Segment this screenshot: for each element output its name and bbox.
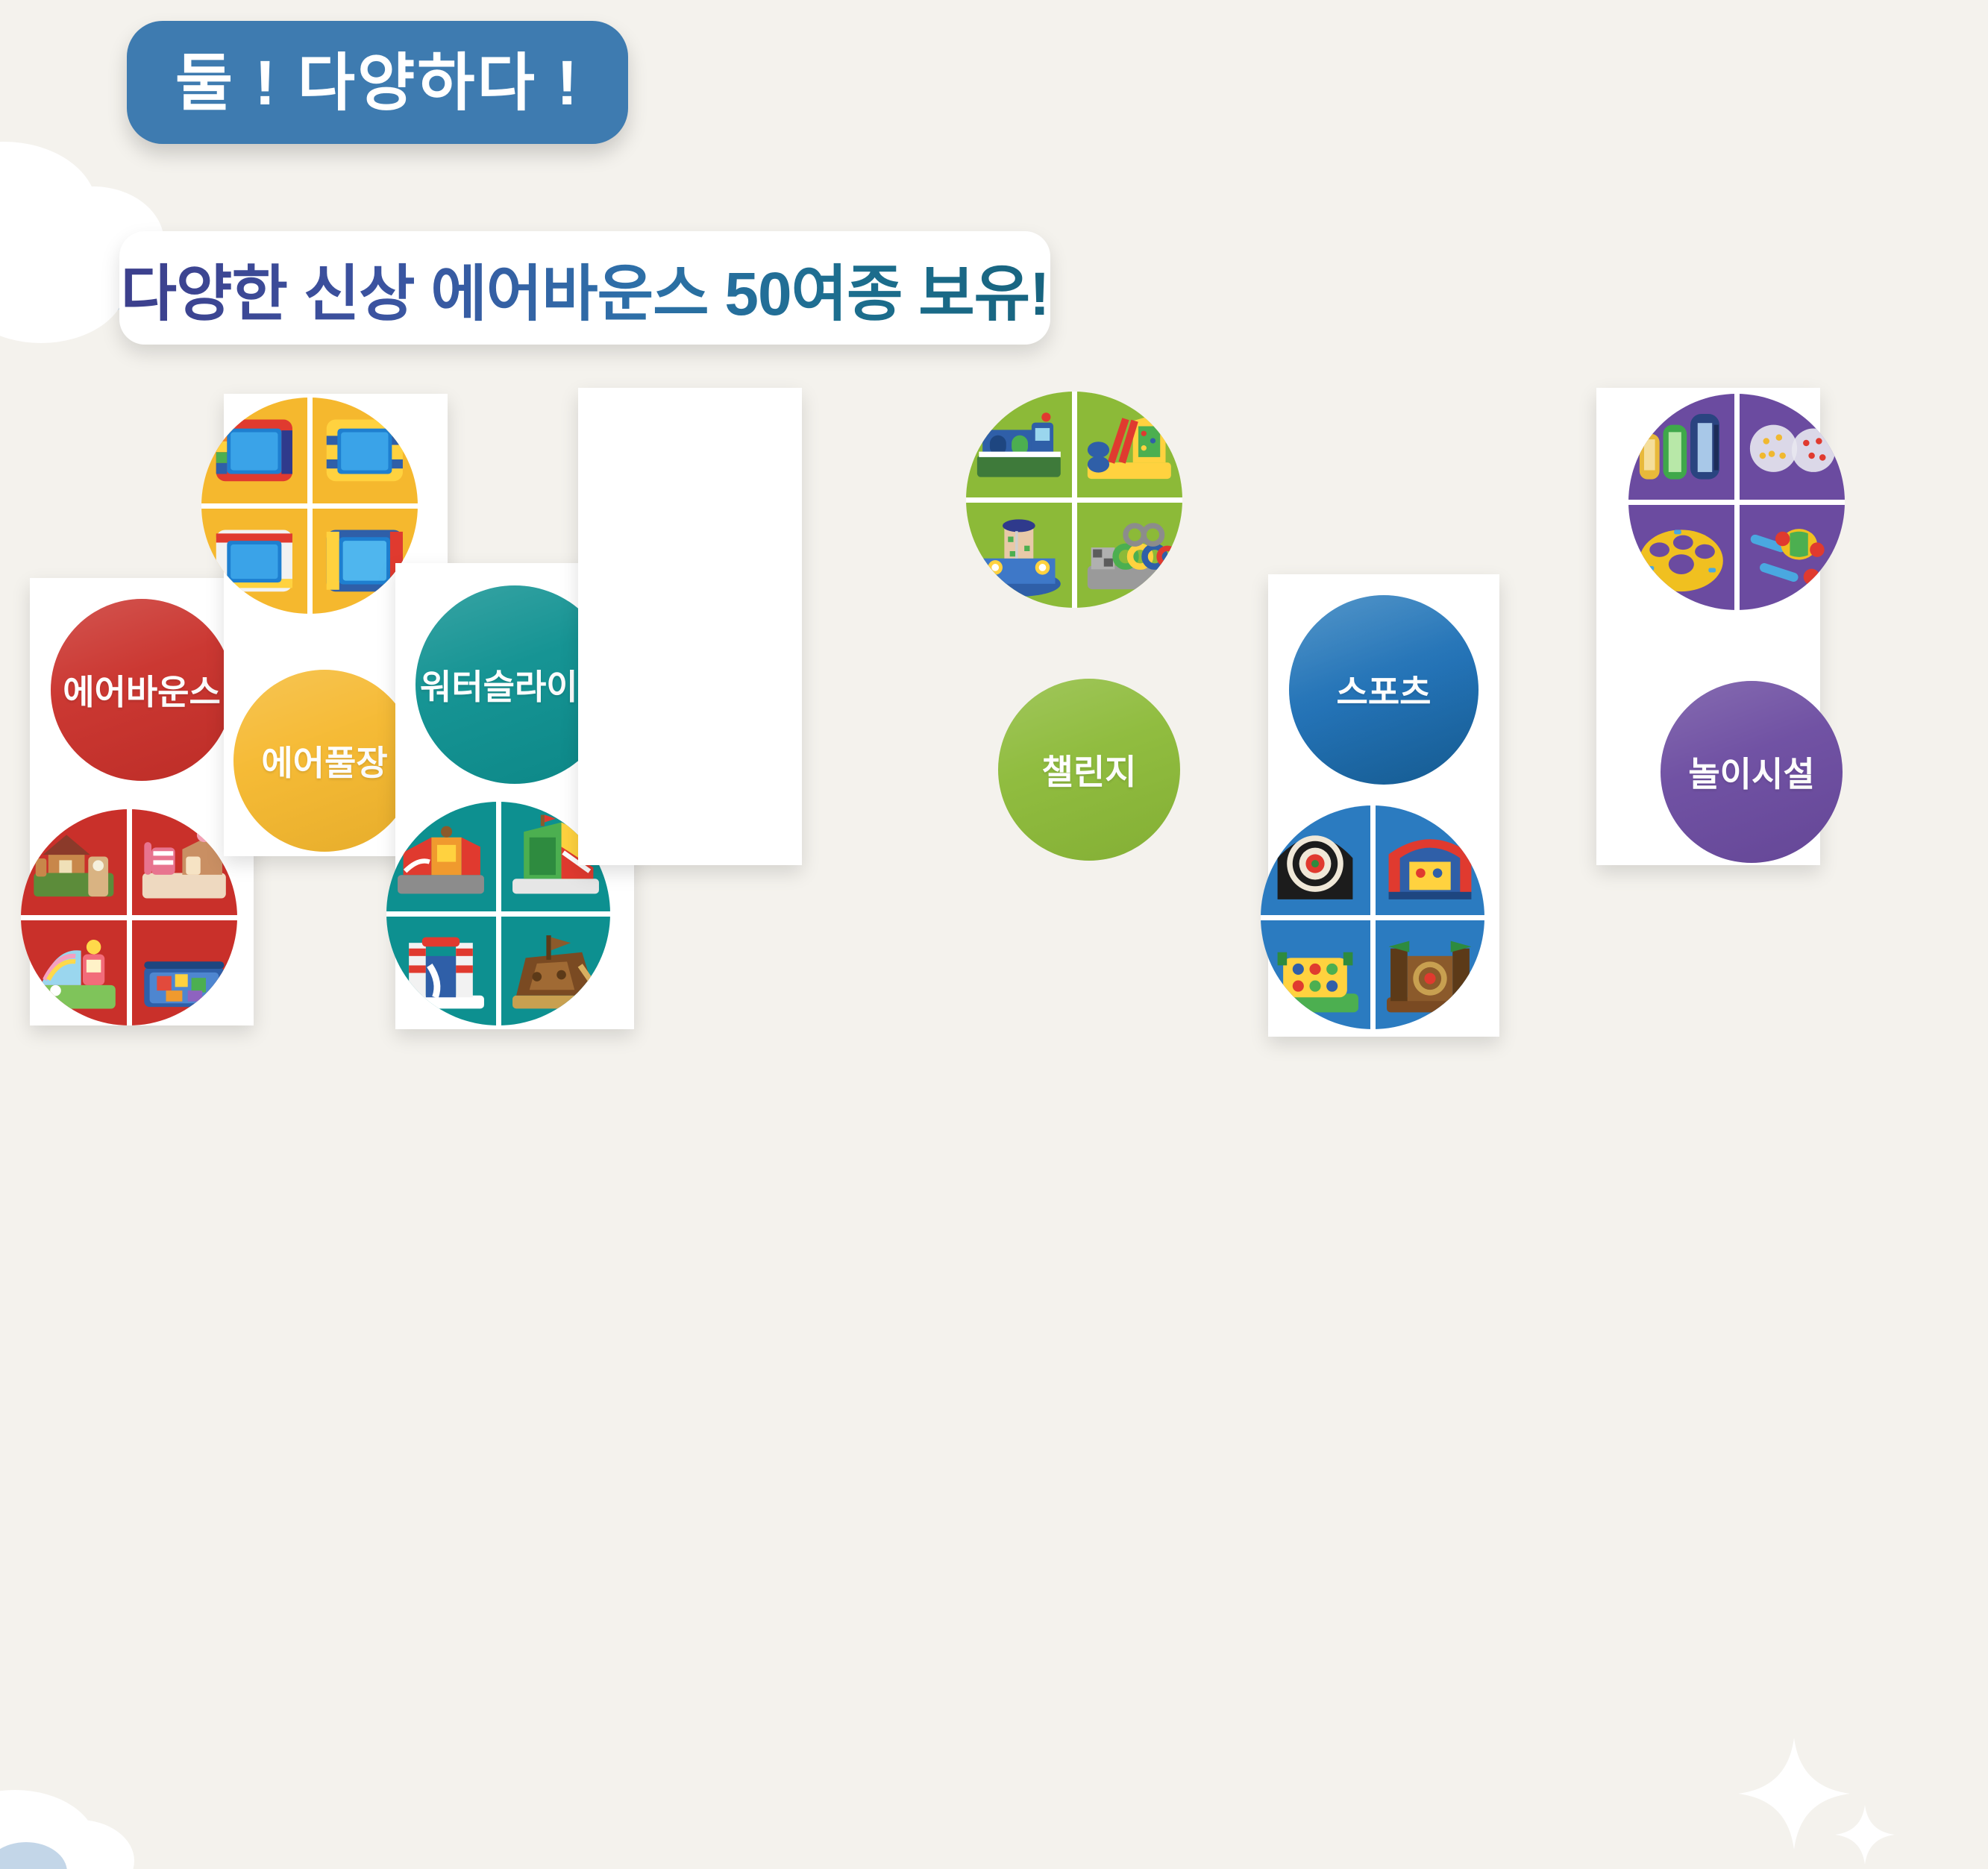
photo-cell [1376, 805, 1485, 915]
category-photos-air-pool[interactable] [201, 398, 418, 614]
category-photos-challenge[interactable] [966, 392, 1182, 608]
photo-cell [386, 802, 496, 911]
category-label-air-bounce[interactable]: 에어바운스 [51, 599, 233, 781]
photo-cell [966, 392, 1072, 497]
category-label-challenge[interactable]: 챌린지 [998, 679, 1180, 861]
category-label-text: 에어풀장 [261, 736, 387, 785]
photo-cell [132, 920, 238, 1026]
category-pod-challenge[interactable] [578, 388, 802, 865]
photo-cell [201, 509, 307, 615]
poster-canvas: 둘 ! 다양하다 ! 다양한 신상 에어바운스 50여종 보유! 에어바운스 [0, 0, 1988, 1869]
photo-cell [313, 398, 418, 503]
category-photos-water-slide[interactable] [386, 802, 610, 1025]
banner-label: 둘 ! 다양하다 ! [175, 51, 580, 114]
photo-cell [1261, 920, 1370, 1030]
photo-cell [1261, 805, 1370, 915]
photo-cell [386, 917, 496, 1026]
sparkle-icon-bottom-large [1738, 1738, 1850, 1850]
category-label-sports[interactable]: 스포츠 [1289, 595, 1479, 785]
headline-label: 다양한 신상 에어바운스 50여종 보유! [121, 244, 1050, 333]
category-photos-play-facility[interactable] [1628, 394, 1845, 610]
photo-cell [201, 398, 307, 503]
photo-cell [1077, 503, 1183, 609]
category-label-text: 챌린지 [1042, 745, 1137, 794]
photo-cell [966, 503, 1072, 609]
category-photos-sports[interactable] [1261, 805, 1484, 1029]
category-label-text: 놀이시설 [1688, 747, 1814, 797]
photo-cell [1077, 392, 1183, 497]
sparkle-icon-bottom-small [1835, 1805, 1895, 1865]
photo-cell [1628, 505, 1734, 611]
category-label-play-facility[interactable]: 놀이시설 [1661, 681, 1843, 863]
photo-cell [501, 917, 611, 1026]
category-photos-air-bounce[interactable] [21, 809, 237, 1025]
section-badge-banner: 둘 ! 다양하다 ! [127, 21, 628, 144]
category-label-text: 에어바운스 [63, 665, 221, 714]
photo-cell [1740, 505, 1846, 611]
pod-background-challenge [578, 388, 802, 865]
headline-card: 다양한 신상 에어바운스 50여종 보유! [119, 231, 1050, 345]
photo-cell [1628, 394, 1734, 500]
photo-cell [21, 920, 127, 1026]
photo-cell [1740, 394, 1846, 500]
photo-cell [1376, 920, 1485, 1030]
category-label-text: 스포츠 [1337, 665, 1432, 714]
photo-cell [21, 809, 127, 915]
photo-cell [132, 809, 238, 915]
